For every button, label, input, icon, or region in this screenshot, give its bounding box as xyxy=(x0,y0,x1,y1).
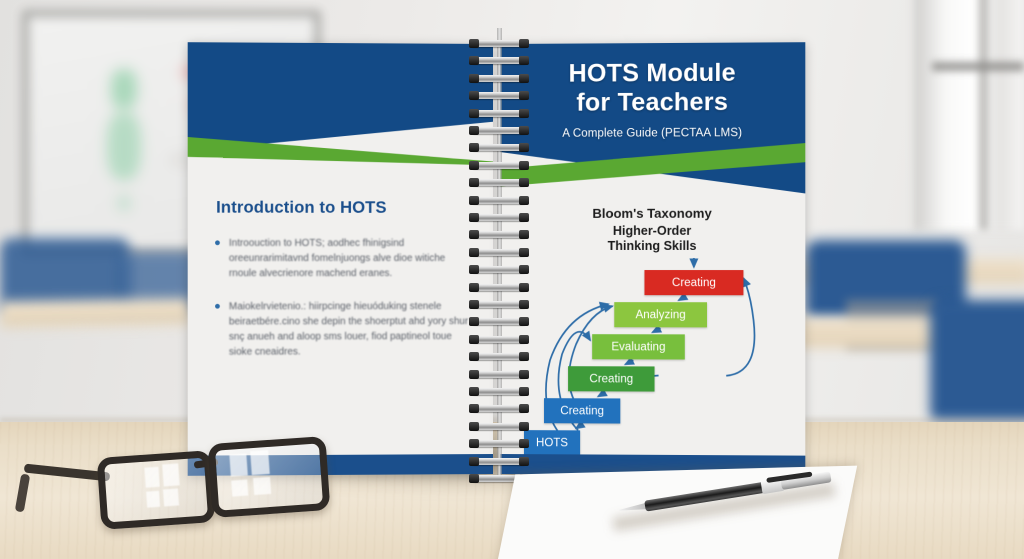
left-page-heading: Introduction to HOTS xyxy=(216,199,386,218)
book-title-line2: for Teachers xyxy=(500,88,805,119)
diagram-box: Analyzing xyxy=(614,302,707,327)
spiral-ring xyxy=(471,301,527,308)
window-frame xyxy=(979,0,988,230)
left-page-blue-band xyxy=(188,42,493,152)
lens-reflection xyxy=(163,488,179,506)
spiral-ring xyxy=(471,458,527,465)
spiral-ring xyxy=(471,57,527,64)
spiral-ring xyxy=(471,127,527,134)
lens-reflection xyxy=(253,477,271,495)
photo-scene: Introduction to HOTS ● Introouction to H… xyxy=(0,0,1024,559)
bullet-item: ● Introouction to HOTS; aodhec fhinigsin… xyxy=(214,236,471,281)
diagram-box-label: Evaluating xyxy=(611,341,665,353)
spiral-ring xyxy=(471,388,527,395)
open-book: Introduction to HOTS ● Introouction to H… xyxy=(190,44,806,484)
lens-reflection xyxy=(162,463,179,486)
diagram-box: Creating xyxy=(544,398,620,423)
spiral-binding xyxy=(471,36,529,488)
lens-reflection xyxy=(146,491,160,508)
book-left-page: Introduction to HOTS ● Introouction to H… xyxy=(188,42,493,476)
book-title-line1: HOTS Module xyxy=(500,58,805,89)
spiral-ring xyxy=(471,197,527,204)
spiral-ring xyxy=(471,75,527,82)
bullet-dot: ● xyxy=(214,299,221,359)
book-right-page: HOTS Module for Teachers A Complete Guid… xyxy=(500,42,805,476)
left-page-bullet-list: ● Introouction to HOTS; aodhec fhinigsin… xyxy=(214,236,471,378)
spiral-ring xyxy=(471,353,527,360)
eyeglasses xyxy=(14,446,306,542)
classroom-desk xyxy=(0,298,190,327)
book-title-block: HOTS Module for Teachers A Complete Guid… xyxy=(500,58,805,139)
diagram-box-label: Creating xyxy=(672,277,716,289)
spiral-ring xyxy=(471,214,527,221)
whiteboard-marking xyxy=(111,69,137,109)
lens-reflection xyxy=(144,467,159,488)
lens-reflection xyxy=(231,480,248,497)
blooms-taxonomy-diagram: CreatingAnalyzingEvaluatingCreatingCreat… xyxy=(500,193,805,475)
spiral-ring xyxy=(471,318,527,325)
spiral-ring xyxy=(471,266,527,273)
lens-reflection xyxy=(250,450,270,475)
diagram-box: Creating xyxy=(568,366,654,391)
spiral-ring xyxy=(471,405,527,412)
spiral-ring xyxy=(471,284,527,291)
bullet-item: ● Maiokelrvietenio.: hiirpcinge hieuóduk… xyxy=(214,299,471,360)
glasses-lens-right xyxy=(208,436,331,518)
diagram-box: Evaluating xyxy=(592,334,685,359)
whiteboard-marking xyxy=(117,195,131,211)
bullet-text: Introouction to HOTS; aodhec fhinigsind … xyxy=(229,236,471,281)
spiral-ring xyxy=(471,336,527,343)
spiral-ring xyxy=(471,179,527,186)
bullet-dot: ● xyxy=(214,236,221,281)
spiral-ring xyxy=(471,231,527,238)
window-sill xyxy=(932,62,1024,71)
spiral-ring xyxy=(471,423,527,430)
spiral-ring xyxy=(471,144,527,151)
diagram-box: HOTS xyxy=(524,430,580,455)
classroom-chair xyxy=(930,300,1024,420)
book-subtitle: A Complete Guide (PECTAA LMS) xyxy=(500,126,805,139)
diagram-box-label: Creating xyxy=(589,373,633,385)
whiteboard-marking xyxy=(107,112,141,180)
diagram-box-label: Analyzing xyxy=(635,309,685,321)
bullet-text: Maiokelrvietenio.: hiirpcinge hieuódukin… xyxy=(229,299,471,360)
lens-reflection xyxy=(229,454,247,477)
glasses-temple-tip xyxy=(15,474,30,513)
diagram-box-label: HOTS xyxy=(536,437,568,449)
spiral-ring xyxy=(471,110,527,117)
spiral-ring xyxy=(471,92,527,99)
spiral-ring xyxy=(471,249,527,256)
window xyxy=(914,0,1024,230)
spiral-ring xyxy=(471,40,527,47)
diagram-box: Creating xyxy=(644,270,743,295)
diagram-box-label: Creating xyxy=(560,405,604,417)
spiral-ring xyxy=(471,440,527,447)
spiral-ring xyxy=(471,162,527,169)
left-page-green-accent xyxy=(188,137,493,176)
spiral-ring xyxy=(471,371,527,378)
